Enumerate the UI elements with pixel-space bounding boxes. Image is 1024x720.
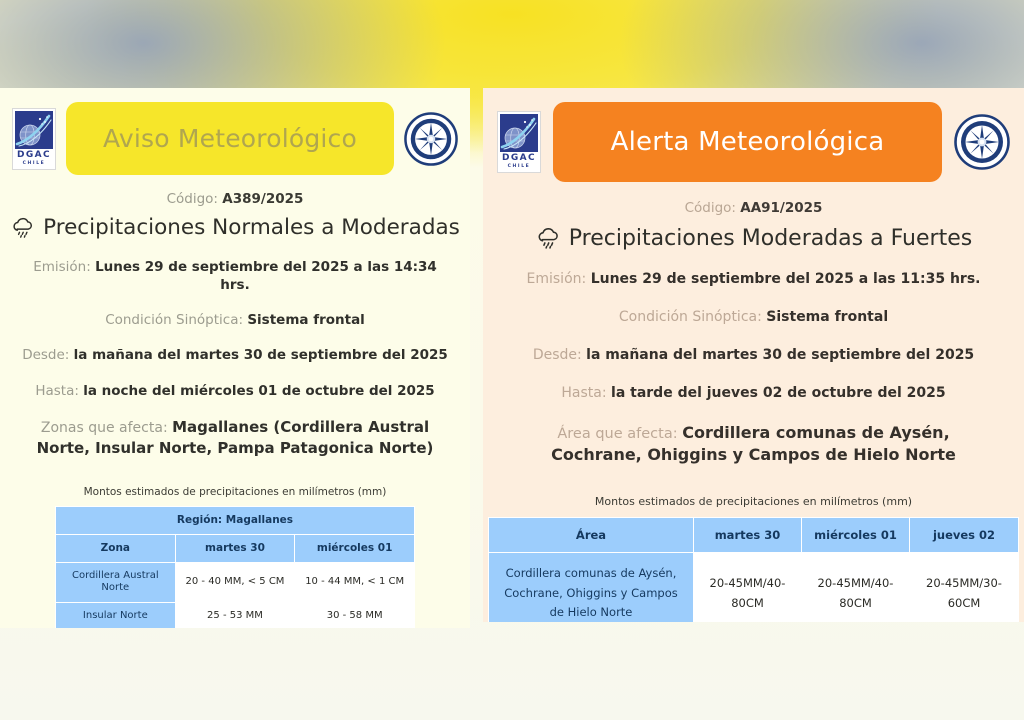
table-cell-value: 20-45MM/40-80CM — [694, 553, 802, 622]
table-cell-zone: Insular Norte — [56, 602, 176, 628]
table-region-header: Región: Magallanes — [56, 506, 415, 534]
alerta-headline-row: Precipitaciones Moderadas a Fuertes — [483, 226, 1024, 251]
field-hasta-value: la tarde del jueves 02 de octubre del 20… — [611, 385, 946, 401]
table-col-martes-30: martes 30 — [694, 517, 802, 552]
table-col-jueves-02: jueves 02 — [910, 517, 1019, 552]
aviso-precipitation-table: Región: Magallanes Zona martes 30 miérco… — [55, 506, 415, 628]
field-emision-value: Lunes 29 de septiembre del 2025 a las 11… — [591, 271, 981, 287]
field-emision: Emisión: Lunes 29 de septiembre del 2025… — [483, 270, 1024, 289]
table-cell-zone: Cordillera Austral Norte — [56, 562, 176, 602]
field-hasta-value: la noche del miércoles 01 de octubre del… — [83, 383, 435, 399]
table-col-miercoles-01: miércoles 01 — [802, 517, 910, 552]
alerta-precipitation-table: Área martes 30 miércoles 01 jueves 02 Co… — [488, 517, 1019, 622]
field-emision: Emisión: Lunes 29 de septiembre del 2025… — [0, 258, 470, 294]
field-emision-label: Emisión: — [33, 259, 91, 275]
field-hasta: Hasta: la tarde del jueves 02 de octubre… — [483, 384, 1024, 403]
field-desde: Desde: la mañana del martes 30 de septie… — [0, 346, 470, 364]
dgac-logo: DGAC CHILE — [497, 111, 541, 173]
field-hasta: Hasta: la noche del miércoles 01 de octu… — [0, 382, 470, 400]
card-header-aviso: DGAC CHILE Aviso Meteorológico — [0, 102, 470, 175]
meteochile-seal-icon: DIRECCIÓN METEOROLÓGICA METEOCHILE — [954, 114, 1010, 170]
aviso-headline-text: Precipitaciones Normales a Moderadas — [43, 216, 460, 241]
table-cell-value: 10 - 44 MM, < 1 CM — [295, 562, 415, 602]
codigo-label: Código: — [685, 200, 736, 216]
meteochile-seal-icon: DIRECCIÓN METEOROLÓGICA METEOCHILE — [404, 112, 458, 166]
table-cell-value: 20-45MM/30-60CM — [910, 553, 1019, 622]
dgac-globe-icon — [500, 114, 538, 152]
table-cell-value: 30 - 58 MM — [295, 602, 415, 628]
field-condicion-sinoptica: Condición Sinóptica: Sistema frontal — [0, 311, 470, 329]
dgac-logo-line2: CHILE — [23, 161, 46, 167]
cloud-rain-icon — [535, 227, 562, 250]
codigo-value: A389/2025 — [222, 191, 303, 207]
table-row: Insular Norte 25 - 53 MM 30 - 58 MM — [56, 602, 415, 628]
aviso-headline-row: Precipitaciones Normales a Moderadas — [0, 216, 470, 241]
dgac-globe-icon — [15, 111, 53, 149]
field-area-afecta: Área que afecta: Cordillera comunas de A… — [483, 422, 1024, 467]
field-desde-label: Desde: — [533, 347, 582, 363]
table-header-row: Zona martes 30 miércoles 01 — [56, 534, 415, 562]
field-area-label: Área que afecta: — [557, 426, 677, 442]
field-emision-value: Lunes 29 de septiembre del 2025 a las 14… — [95, 259, 437, 293]
field-condicion-label: Condición Sinóptica: — [105, 312, 243, 328]
field-desde-value: la mañana del martes 30 de septiembre de… — [74, 347, 448, 363]
card-header-alerta: DGAC CHILE Alerta Meteorológica — [483, 102, 1024, 182]
field-condicion-label: Condición Sinóptica: — [619, 309, 762, 325]
table-cell-value: 20-45MM/40-80CM — [802, 553, 910, 622]
field-hasta-label: Hasta: — [35, 383, 79, 399]
alerta-banner-title: Alerta Meteorológica — [553, 102, 942, 182]
field-condicion-sinoptica: Condición Sinóptica: Sistema frontal — [483, 308, 1024, 327]
field-condicion-value: Sistema frontal — [247, 312, 364, 328]
table-header-row: Área martes 30 miércoles 01 jueves 02 — [489, 517, 1019, 552]
table-span-header-row: Región: Magallanes — [56, 506, 415, 534]
codigo-label: Código: — [167, 191, 218, 207]
codigo-row-aviso: Código: A389/2025 — [0, 191, 470, 207]
table-col-miercoles-01: miércoles 01 — [295, 534, 415, 562]
field-desde: Desde: la mañana del martes 30 de septie… — [483, 346, 1024, 365]
field-zonas-afecta: Zonas que afecta: Magallanes (Cordillera… — [0, 417, 470, 459]
dgac-logo: DGAC CHILE — [12, 108, 56, 170]
table-col-area: Área — [489, 517, 694, 552]
alerta-meteorologica-card: DGAC CHILE Alerta Meteorológica — [483, 88, 1024, 622]
table-row: Cordillera comunas de Aysén, Cochrane, O… — [489, 553, 1019, 622]
table-col-zona: Zona — [56, 534, 176, 562]
alerta-table-caption: Montos estimados de precipitaciones en m… — [483, 495, 1024, 508]
aviso-banner-title: Aviso Meteorológico — [66, 102, 394, 175]
table-cell-value: 20 - 40 MM, < 5 CM — [175, 562, 295, 602]
aviso-table-caption: Montos estimados de precipitaciones en m… — [0, 486, 470, 498]
field-condicion-value: Sistema frontal — [766, 309, 888, 325]
codigo-value: AA91/2025 — [740, 200, 822, 216]
codigo-row-alerta: Código: AA91/2025 — [483, 200, 1024, 216]
dgac-logo-line1: DGAC — [17, 150, 51, 161]
field-hasta-label: Hasta: — [561, 385, 606, 401]
cloud-rain-icon — [10, 217, 36, 239]
field-emision-label: Emisión: — [527, 271, 587, 287]
dgac-logo-line1: DGAC — [502, 153, 536, 164]
table-cell-value: 25 - 53 MM — [175, 602, 295, 628]
table-row: Cordillera Austral Norte 20 - 40 MM, < 5… — [56, 562, 415, 602]
table-cell-zone: Cordillera comunas de Aysén, Cochrane, O… — [489, 553, 694, 622]
alerta-headline-text: Precipitaciones Moderadas a Fuertes — [569, 226, 972, 251]
field-desde-value: la mañana del martes 30 de septiembre de… — [586, 347, 974, 363]
dgac-logo-line2: CHILE — [508, 164, 531, 170]
aviso-meteorologico-card: DGAC CHILE Aviso Meteorológico — [0, 88, 470, 628]
table-col-martes-30: martes 30 — [175, 534, 295, 562]
field-zonas-label: Zonas que afecta: — [41, 420, 168, 436]
field-desde-label: Desde: — [22, 347, 69, 363]
